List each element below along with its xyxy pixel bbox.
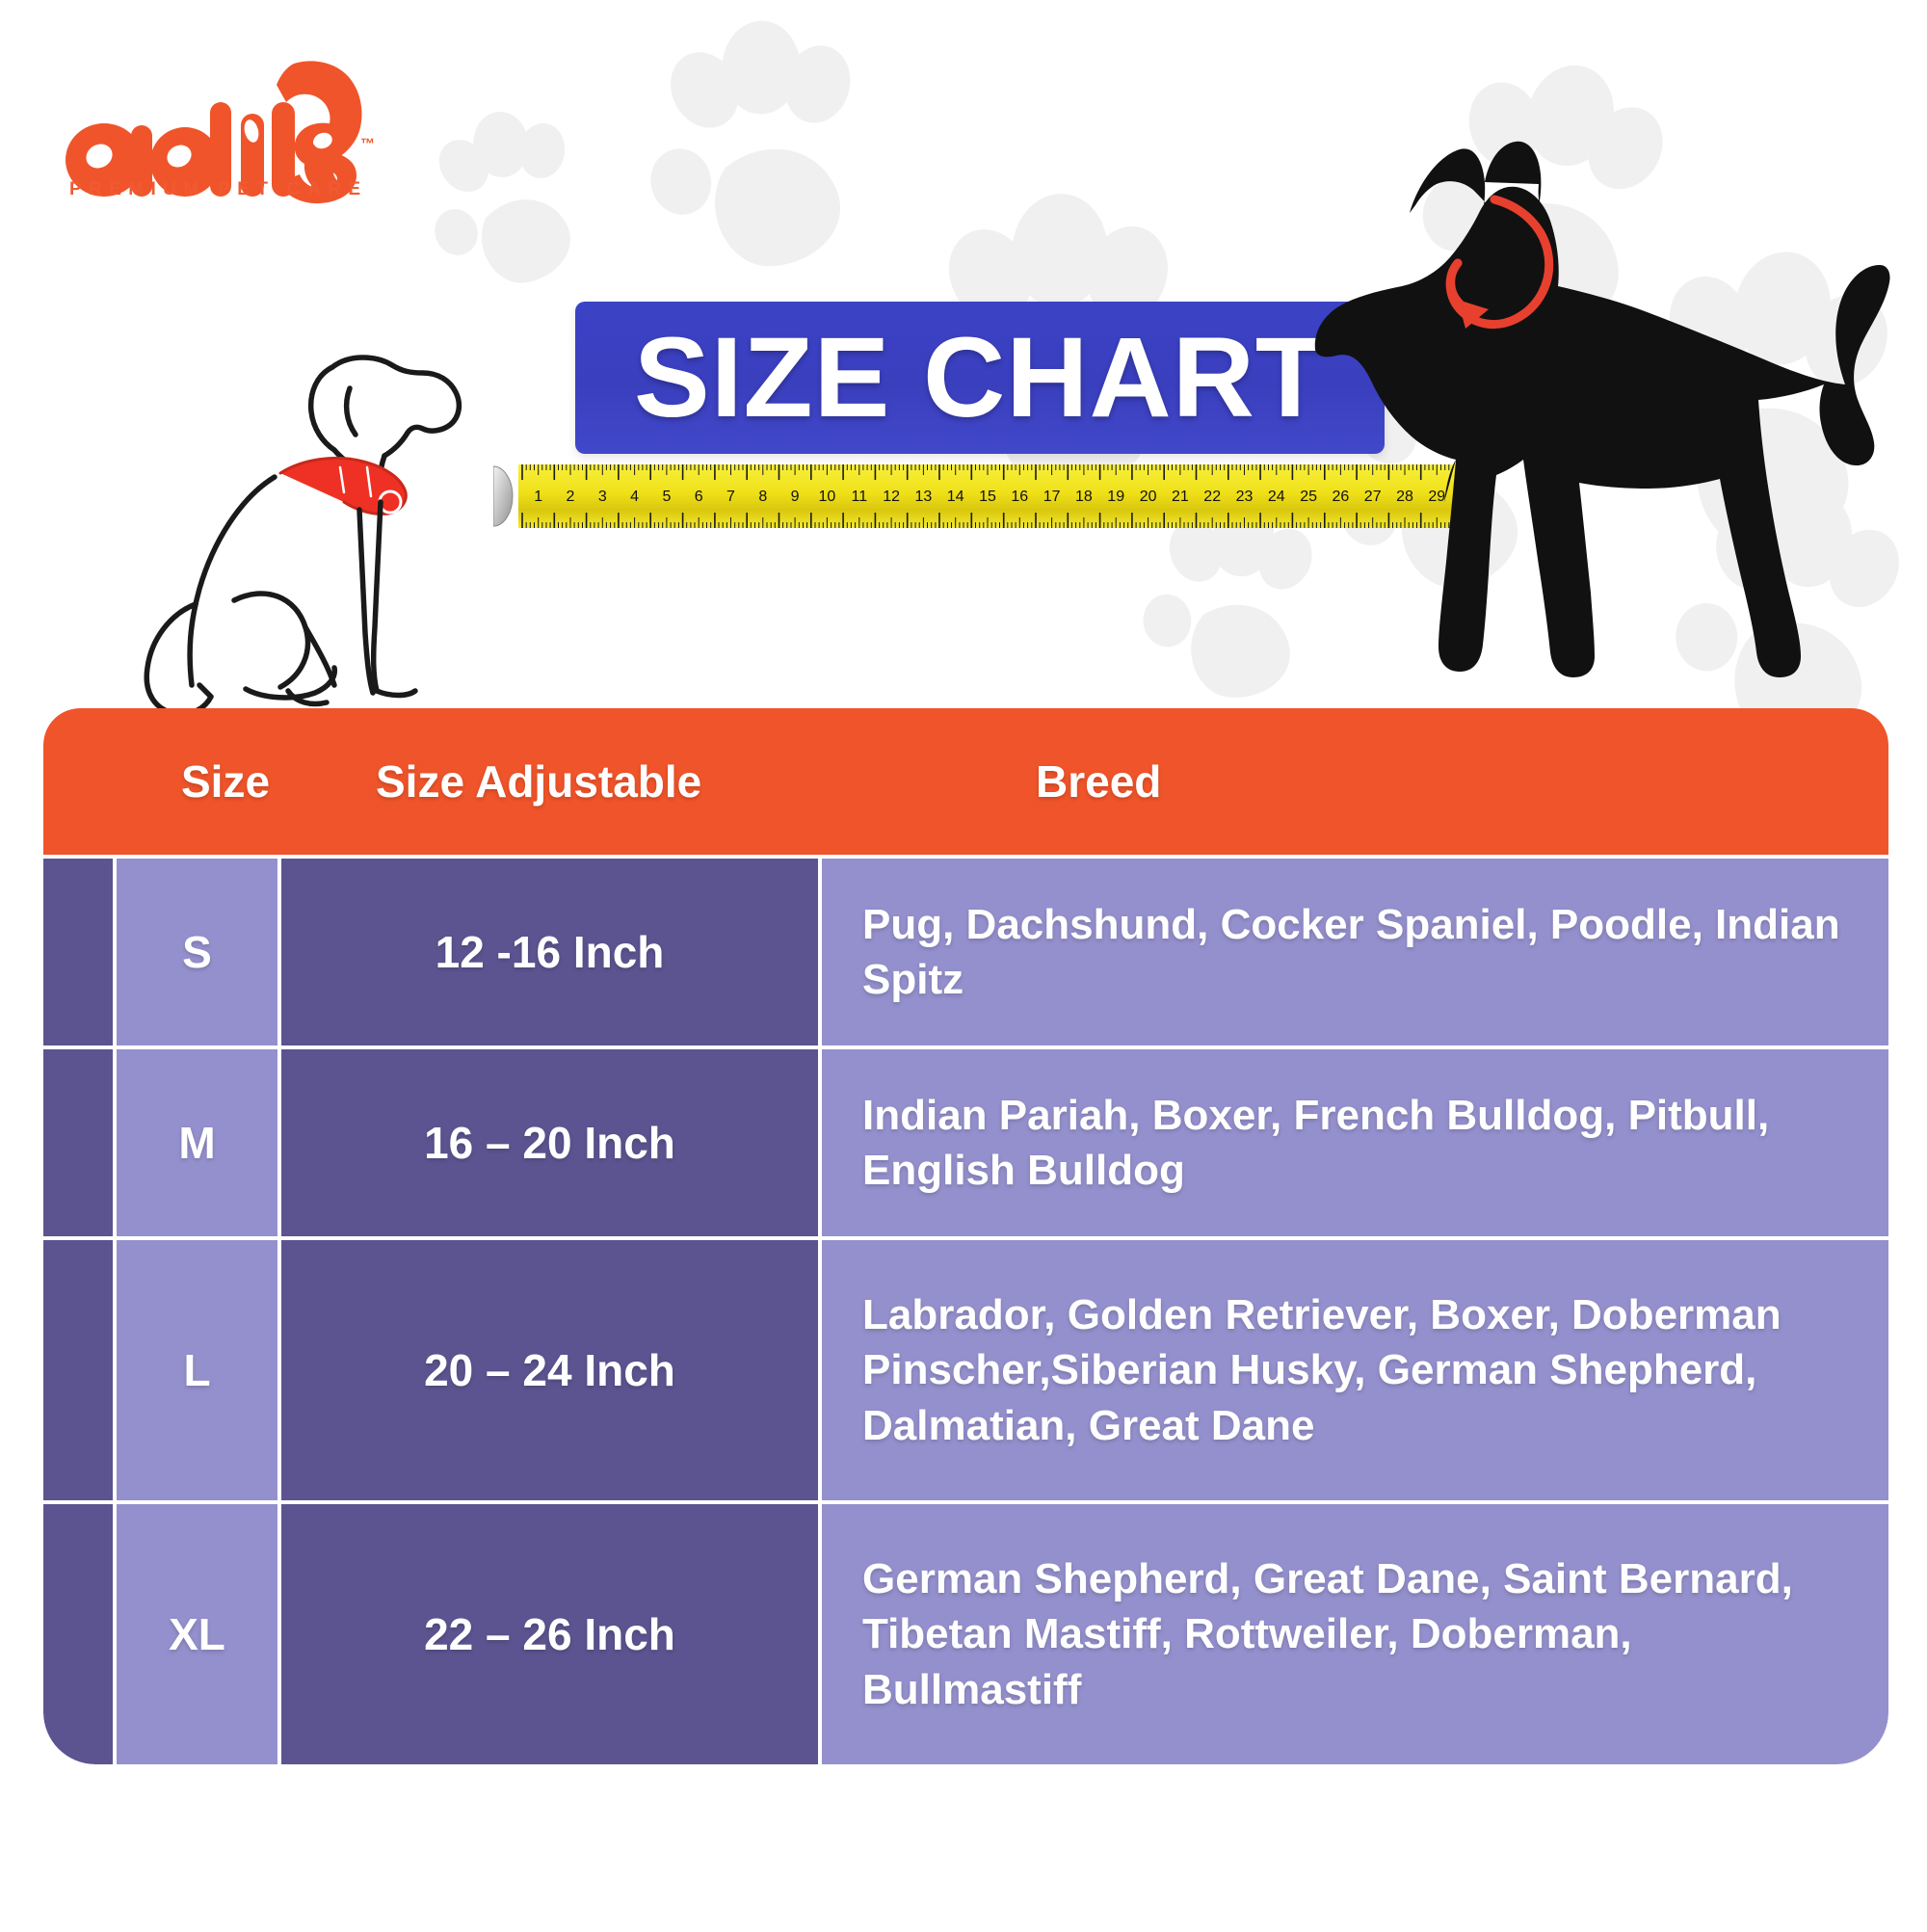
cell-size: M — [113, 1049, 281, 1236]
tape-number: 18 — [1075, 489, 1093, 505]
tape-number: 21 — [1172, 489, 1189, 505]
cell-adjustable: 16 – 20 Inch — [281, 1049, 822, 1236]
breed-value: German Shepherd, Great Dane, Saint Berna… — [862, 1551, 1860, 1717]
tape-number: 19 — [1107, 489, 1124, 505]
tape-number: 14 — [947, 489, 964, 505]
breed-value: Pug, Dachshund, Cocker Spaniel, Poodle, … — [862, 897, 1860, 1007]
cell-breed: Labrador, Golden Retriever, Boxer, Dober… — [822, 1240, 1888, 1500]
size-value: S — [182, 926, 212, 978]
tape-number: 6 — [695, 489, 703, 505]
table-row: S 12 -16 Inch Pug, Dachshund, Cocker Spa… — [43, 855, 1888, 1045]
table-row: L 20 – 24 Inch Labrador, Golden Retrieve… — [43, 1236, 1888, 1500]
tape-number: 16 — [1011, 489, 1028, 505]
tape-number: 9 — [791, 489, 800, 505]
breed-value: Indian Pariah, Boxer, French Bulldog, Pi… — [862, 1088, 1860, 1198]
cell-breed: Indian Pariah, Boxer, French Bulldog, Pi… — [822, 1049, 1888, 1236]
cell-size: XL — [113, 1504, 281, 1764]
sitting-dog-graphic — [92, 332, 515, 718]
tape-number: 5 — [662, 489, 671, 505]
tape-number: 7 — [726, 489, 735, 505]
cell-breed: Pug, Dachshund, Cocker Spaniel, Poodle, … — [822, 859, 1888, 1045]
cell-adjustable: 20 – 24 Inch — [281, 1240, 822, 1500]
breed-value: Labrador, Golden Retriever, Boxer, Dober… — [862, 1287, 1860, 1453]
cell-size: L — [113, 1240, 281, 1500]
row-accent-bar — [43, 1504, 113, 1764]
row-accent-bar — [43, 1049, 113, 1236]
adjustable-value: 16 – 20 Inch — [424, 1117, 675, 1169]
column-header-breed: Breed — [1036, 755, 1161, 807]
adjustable-value: 12 -16 Inch — [436, 926, 665, 978]
tape-number: 15 — [979, 489, 996, 505]
tape-number: 23 — [1236, 489, 1254, 505]
trademark-symbol: ™ — [360, 136, 375, 152]
column-header-size: Size — [181, 755, 270, 807]
tape-number: 1 — [534, 489, 542, 505]
tape-number: 10 — [819, 489, 836, 505]
tape-number: 8 — [758, 489, 767, 505]
size-value: M — [178, 1117, 215, 1169]
dog-sitting-outline — [92, 332, 515, 718]
tape-number: 22 — [1203, 489, 1221, 505]
adjustable-value: 20 – 24 Inch — [424, 1344, 675, 1396]
dog-standing-silhouette — [1296, 120, 1893, 728]
tape-number: 11 — [851, 489, 867, 505]
column-header-adjustable: Size Adjustable — [376, 755, 701, 807]
table-row: M 16 – 20 Inch Indian Pariah, Boxer, Fre… — [43, 1045, 1888, 1236]
size-chart-title: SIZE CHART — [575, 321, 1385, 435]
adjustable-value: 22 – 26 Inch — [424, 1608, 675, 1660]
tape-number: 12 — [883, 489, 900, 505]
tape-number: 24 — [1268, 489, 1285, 505]
cell-breed: German Shepherd, Great Dane, Saint Berna… — [822, 1504, 1888, 1764]
row-accent-bar — [43, 859, 113, 1045]
tape-number: 4 — [630, 489, 639, 505]
cell-adjustable: 12 -16 Inch — [281, 859, 822, 1045]
cell-adjustable: 22 – 26 Inch — [281, 1504, 822, 1764]
standing-dog-graphic — [1296, 120, 1893, 728]
tape-number: 3 — [598, 489, 607, 505]
table-header-row: Size Size Adjustable Breed — [43, 708, 1888, 855]
size-chart-banner: SIZE CHART — [575, 302, 1385, 454]
tape-number: 13 — [915, 489, 933, 505]
tape-number: 20 — [1140, 489, 1157, 505]
row-accent-bar — [43, 1240, 113, 1500]
cell-size: S — [113, 859, 281, 1045]
tape-number: 17 — [1043, 489, 1061, 505]
table-row: XL 22 – 26 Inch German Shepherd, Great D… — [43, 1500, 1888, 1764]
size-value: L — [183, 1344, 210, 1396]
tape-number: 2 — [567, 489, 575, 505]
logo-tagline: PREMIUM PET CARE — [69, 179, 367, 200]
size-value: XL — [169, 1608, 225, 1660]
size-chart-table: Size Size Adjustable Breed S 12 -16 Inch… — [43, 708, 1888, 1764]
